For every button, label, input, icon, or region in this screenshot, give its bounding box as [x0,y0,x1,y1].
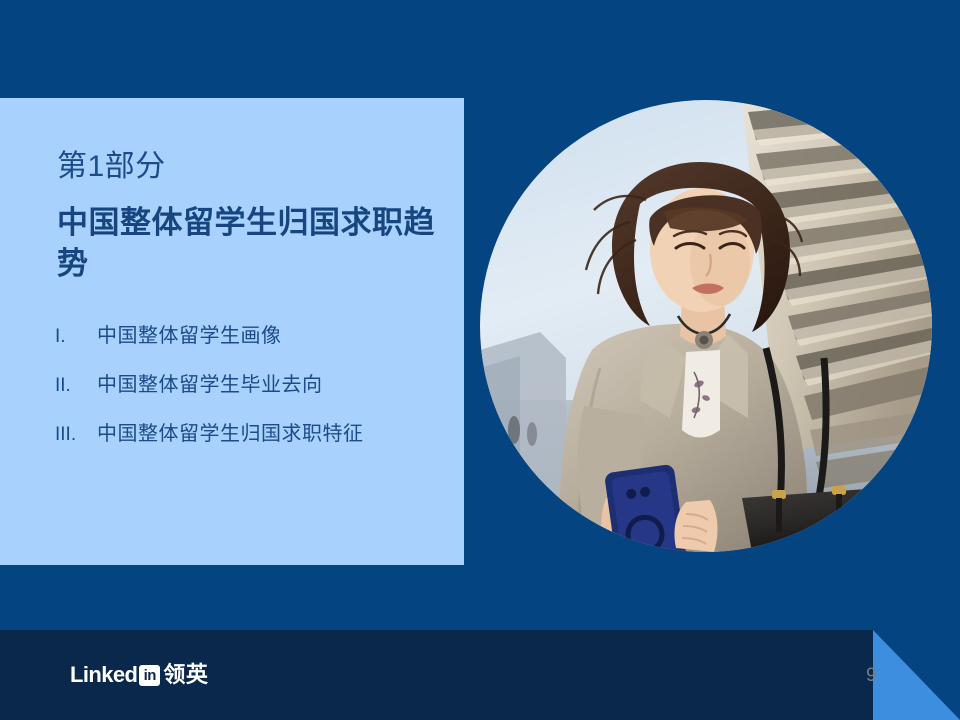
photo-illustration [480,100,932,552]
list-item-label: 中国整体留学生画像 [97,324,282,348]
accent-triangle [873,630,960,720]
list-item-label: 中国整体留学生归国求职特征 [97,422,364,446]
list-item-number: III. [55,424,97,447]
presentation-slide: 第1部分 中国整体留学生归国求职趋势 I. 中国整体留学生画像 II. 中国整体… [0,0,960,720]
triangle-shape [873,630,960,720]
page-number: 9 [866,666,877,685]
table-of-contents: I. 中国整体留学生画像 II. 中国整体留学生毕业去向 III. 中国整体留学… [55,324,455,470]
list-item[interactable]: III. 中国整体留学生归国求职特征 [55,422,455,447]
circular-photo [480,100,932,552]
logo-wordmark: Linked [70,664,137,686]
linkedin-logo[interactable]: Linked in 领英 [70,662,208,688]
logo-chinese-name: 领英 [163,664,208,686]
list-item-label: 中国整体留学生毕业去向 [97,373,323,397]
page-title: 中国整体留学生归国求职趋势 [57,203,437,285]
list-item[interactable]: II. 中国整体留学生毕业去向 [55,373,455,398]
list-item-number: II. [55,375,97,398]
section-eyebrow: 第1部分 [57,150,166,183]
list-item-number: I. [55,326,97,349]
list-item[interactable]: I. 中国整体留学生画像 [55,324,455,349]
linkedin-in-icon: in [139,665,160,686]
section-panel: 第1部分 中国整体留学生归国求职趋势 I. 中国整体留学生画像 II. 中国整体… [0,98,464,565]
